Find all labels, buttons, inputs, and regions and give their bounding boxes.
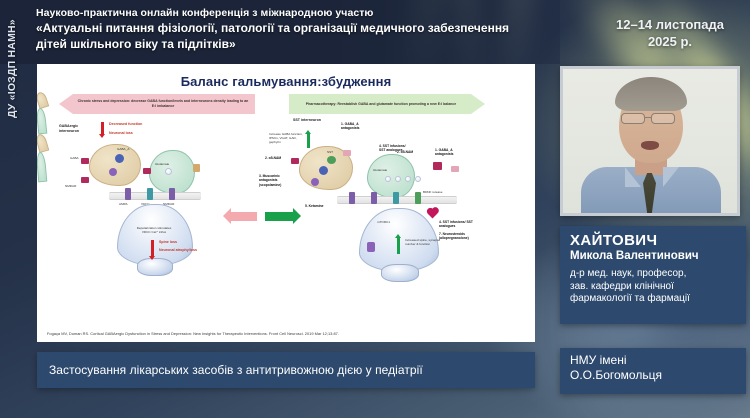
presentation-stage: ДУ «ІОЗДП НАМН» Науково-практична онлайн… <box>0 0 750 418</box>
speaker-collar-left <box>625 167 641 187</box>
receptor-pgrmc1-icon <box>367 242 375 252</box>
glasses-icon <box>621 113 645 124</box>
speaker-video-frame[interactable] <box>560 66 740 216</box>
label-2-alpha5-nam-right: 2. α5-NAM <box>397 150 413 154</box>
organizer-vertical-label: ДУ «ІОЗДП НАМН» <box>6 0 32 120</box>
label-bdnf-release: BDNF release <box>423 190 442 194</box>
receptor-alpha5nam-icon <box>291 158 299 164</box>
label-3-gabaa-antagonists: 1. GABA_A antagonists <box>435 148 463 157</box>
label-sst: SST <box>327 150 333 154</box>
presentation-caption-text: Застосування лікарських засобів з антитр… <box>49 363 423 377</box>
receptor-pink-icon <box>451 166 459 172</box>
affiliation-card: НМУ імені О.О.Богомольця <box>560 348 746 394</box>
receptor-violet-icon <box>311 178 319 186</box>
speaker-role-line1: д-р мед. наук, професор, <box>570 268 738 281</box>
label-2-alpha5-nam: 2. α5-NAM <box>265 156 281 160</box>
presentation-caption-bar: Застосування лікарських засобів з антитр… <box>37 352 535 388</box>
receptor-gabaa-icon <box>433 162 442 170</box>
arrow-rebalance-icon <box>265 212 293 221</box>
label-neuronal-atrophy: Neuronal atrophy/loss <box>159 248 197 253</box>
sst-marker-icon <box>327 156 336 164</box>
arrow-decrease-icon <box>101 122 104 134</box>
speaker-video[interactable] <box>563 69 737 213</box>
date-year: 2025 р. <box>600 33 740 50</box>
neurosteroid-marker-icon <box>428 209 438 219</box>
arrow-decrease-icon <box>151 240 154 256</box>
receptor-ampa-icon <box>125 188 131 200</box>
figure-diagram: Chronic stress and depression: decrease … <box>37 92 535 310</box>
receptor-trkb-icon <box>393 192 399 204</box>
label-gabaa: GABA_A <box>117 147 129 151</box>
label-decreased-function: Decreased function <box>109 122 153 127</box>
banner-pharmacotherapy: Pharmacotherapy: Reestablish GABA and gl… <box>289 94 485 114</box>
label-increased-spine: Increased spine, synapse number & functi… <box>405 238 445 246</box>
glutamate-apical-dendrite <box>37 152 47 183</box>
label-gaba: GABA <box>70 156 79 160</box>
speaker-collar-right <box>663 167 679 187</box>
vesicle-icon <box>405 176 411 182</box>
label-5-ketamine: 5. Ketamine <box>305 204 324 208</box>
receptor-ampa-icon <box>349 192 355 204</box>
affiliation-line2: О.О.Богомольця <box>570 368 738 383</box>
label-7-neurosteroids: 7. Neurosteroids (allopregnanolone) <box>439 232 479 241</box>
label-glutamate: Glutamate <box>373 168 387 172</box>
arrow-increase-icon <box>397 238 400 254</box>
receptor-blue-icon <box>319 166 328 175</box>
receptor-tan-icon <box>193 164 200 172</box>
arrow-increase-icon <box>307 134 310 148</box>
slide-title: Баланс гальмування:збудження <box>37 74 535 89</box>
receptor-nmdar-icon <box>81 177 89 183</box>
axon-terminal-band <box>109 192 201 200</box>
speaker-mouth <box>641 141 659 150</box>
speaker-surname: ХАЙТОВИЧ <box>570 232 738 249</box>
gaba-interneuron-left <box>89 144 141 186</box>
receptor-gabaa-icon <box>143 168 151 174</box>
receptor-gabaa-antagonist-icon <box>343 150 351 156</box>
speaker-role: д-р мед. наук, професор, зав. кафедри кл… <box>570 268 738 306</box>
label-6-gabaa-agonists: 4. SST infusions/ SST analogues <box>439 220 479 229</box>
dendrite-shaft-right <box>381 264 419 282</box>
speaker-hair <box>615 77 687 111</box>
label-sst-interneuron: SST interneuron <box>293 118 321 123</box>
glasses-icon <box>651 113 675 124</box>
vesicle-icon <box>415 176 421 182</box>
glutamate-apical-dendrite <box>37 108 47 135</box>
speaker-info-card: ХАЙТОВИЧ Микола Валентинович д-р мед. на… <box>560 226 746 324</box>
affiliation-line1: НМУ імені <box>570 353 738 368</box>
label-3-muscarinic-antagonists: 3. Muscarinic antagonists (scopolamine) <box>259 174 295 187</box>
glasses-bridge-icon <box>645 117 651 118</box>
label-1-gabaa-antagonists: 1. GABA_A antagonists <box>341 122 371 131</box>
affiliation-text: НМУ імені О.О.Богомольця <box>570 353 738 383</box>
label-gabaergic-interneuron: GABAergic interneuron <box>59 124 93 133</box>
label-neuronal-loss: Neuronal loss <box>109 131 153 136</box>
receptor-vdcc-icon <box>147 188 153 200</box>
gaba-dendrite <box>37 91 49 109</box>
slide-canvas[interactable]: Баланс гальмування:збудження Chronic str… <box>37 64 535 342</box>
label-ampa: AMPA <box>119 202 128 206</box>
receptor-violet-icon <box>109 168 117 176</box>
speaker-role-line2: зав. кафедри клінічної <box>570 281 738 294</box>
vesicle-icon <box>395 176 401 182</box>
label-nmdar: NMDAR <box>65 184 76 188</box>
label-mtorc1: mTORC1 <box>377 220 390 224</box>
banner-stress-depression: Chronic stress and depression: decrease … <box>59 94 255 114</box>
label-increase-gaba-function: Increase GABA function, IPSCs, VGAT, GAD… <box>269 132 303 144</box>
speaker-given-name: Микола Валентинович <box>570 249 738 263</box>
conference-main-title: «Актуальні питання фізіології, патології… <box>36 21 536 52</box>
conference-title: Науково-практична онлайн конференція з м… <box>36 6 536 52</box>
dendritic-spine-left <box>117 204 193 266</box>
receptor-nmdar-icon <box>371 192 377 204</box>
receptor-gabaa-icon <box>81 158 89 164</box>
arrow-imbalance-icon <box>231 212 257 221</box>
receptor-blue-icon <box>115 154 124 163</box>
label-glutamate: Glutamate <box>155 162 169 166</box>
label-spine-loss: Spine loss <box>159 240 177 245</box>
speaker-role-line3: фармакології та фармації <box>570 293 738 306</box>
conference-date: 12–14 листопада 2025 р. <box>600 16 740 50</box>
conference-subtitle: Науково-практична онлайн конференція з м… <box>36 6 536 20</box>
label-depolarization: Depolarization stimulates VDCC Ca²⁺ infl… <box>133 226 175 234</box>
vesicle-icon <box>385 176 391 182</box>
slide-citation: Fogaça MV, Duman RS. Cortical GABAergic … <box>47 331 525 337</box>
vesicle-icon <box>165 168 172 175</box>
receptor-green-icon <box>415 192 421 204</box>
receptor-nmdar-icon <box>169 188 175 200</box>
dendrite-shaft-left <box>137 258 173 276</box>
date-days: 12–14 листопада <box>600 16 740 33</box>
gaba-dendrite <box>37 133 49 153</box>
